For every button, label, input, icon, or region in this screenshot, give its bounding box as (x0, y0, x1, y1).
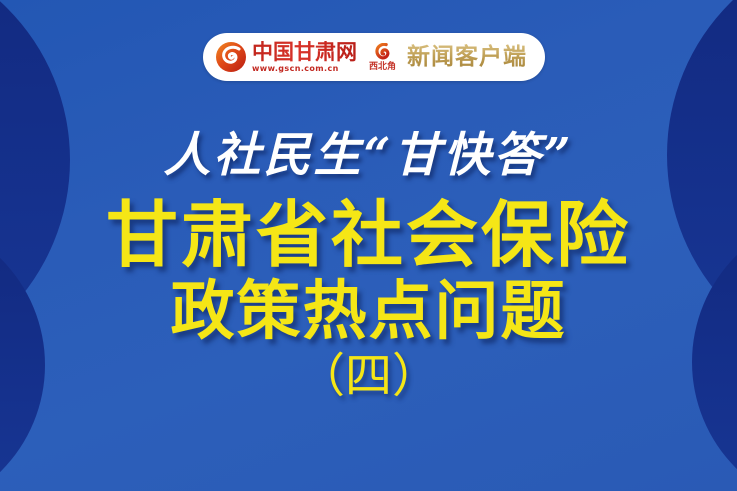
site-name-label: 中国甘肃网 (252, 41, 357, 63)
site-url-label: www.gscn.com.cn (252, 64, 339, 74)
xibeijiao-flame-icon (374, 43, 391, 62)
poster-canvas: 中国甘肃网 www.gscn.com.cn 西北角 新闻客户端 人社民生“甘快答… (0, 0, 737, 491)
logo-badge[interactable]: 中国甘肃网 www.gscn.com.cn 西北角 新闻客户端 (203, 33, 545, 81)
xibeijiao-label: 西北角 (369, 62, 396, 72)
part-number-label: （四） (0, 349, 737, 405)
gansu-net-swirl-icon (215, 41, 247, 73)
app-label: 新闻客户端 (407, 44, 527, 70)
headline-block: 人社民生“甘快答” 甘肃省社会保险 政策热点问题 （四） (0, 125, 737, 405)
title-line-2: 政策热点问题 (0, 275, 737, 349)
subtitle-text: 人社民生“甘快答” (0, 125, 737, 187)
site-identity: 中国甘肃网 www.gscn.com.cn (252, 41, 357, 74)
xibeijiao-identity: 西北角 (369, 43, 396, 72)
title-line-1: 甘肃省社会保险 (0, 195, 737, 275)
